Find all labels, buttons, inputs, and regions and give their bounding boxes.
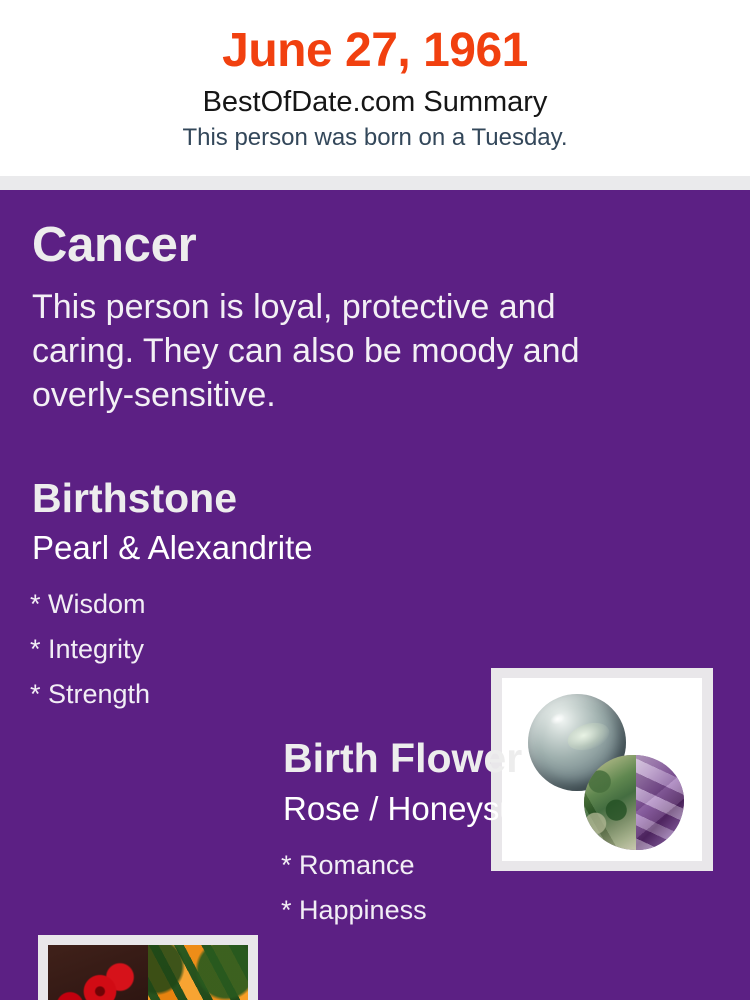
pearl-highlight-icon — [548, 711, 565, 726]
summary-card: June 27, 1961 BestOfDate.com Summary Thi… — [0, 0, 750, 1000]
list-item: * Romance — [281, 843, 427, 888]
birth-flower-image — [48, 945, 248, 1000]
page-title-date: June 27, 1961 — [0, 0, 750, 80]
list-item: * Wisdom — [30, 582, 150, 627]
birth-flower-heading: Birth Flower — [283, 733, 522, 783]
list-item: * Strength — [30, 672, 150, 717]
birthstone-heading: Birthstone — [32, 473, 237, 523]
zodiac-sign-title: Cancer — [32, 216, 196, 274]
alexandrite-gem-icon — [584, 755, 684, 850]
birthstone-name: Pearl & Alexandrite — [32, 527, 313, 569]
honeysuckle-photo-half — [148, 945, 248, 1000]
list-item: * Integrity — [30, 627, 150, 672]
born-weekday-text: This person was born on a Tuesday. — [0, 120, 750, 153]
zodiac-description: This person is loyal, protective and car… — [32, 285, 652, 417]
birthstone-image — [502, 678, 702, 861]
list-item: * Happiness — [281, 888, 427, 933]
header: June 27, 1961 BestOfDate.com Summary Thi… — [0, 0, 750, 176]
birthstone-photo-frame — [491, 668, 713, 871]
header-divider — [0, 176, 750, 190]
alexandrite-faceted-half — [636, 755, 684, 850]
birth-flower-name: Rose / Honeysuckle — [283, 788, 576, 830]
birth-flower-traits-list: * Romance * Happiness — [281, 843, 427, 933]
alexandrite-rough-half — [584, 755, 636, 850]
site-name: BestOfDate.com Summary — [0, 80, 750, 120]
rose-photo-half — [48, 945, 148, 1000]
body-panel: Cancer This person is loyal, protective … — [0, 190, 750, 1000]
birth-flower-photo-frame — [38, 935, 258, 1000]
birthstone-traits-list: * Wisdom * Integrity * Strength — [30, 582, 150, 717]
